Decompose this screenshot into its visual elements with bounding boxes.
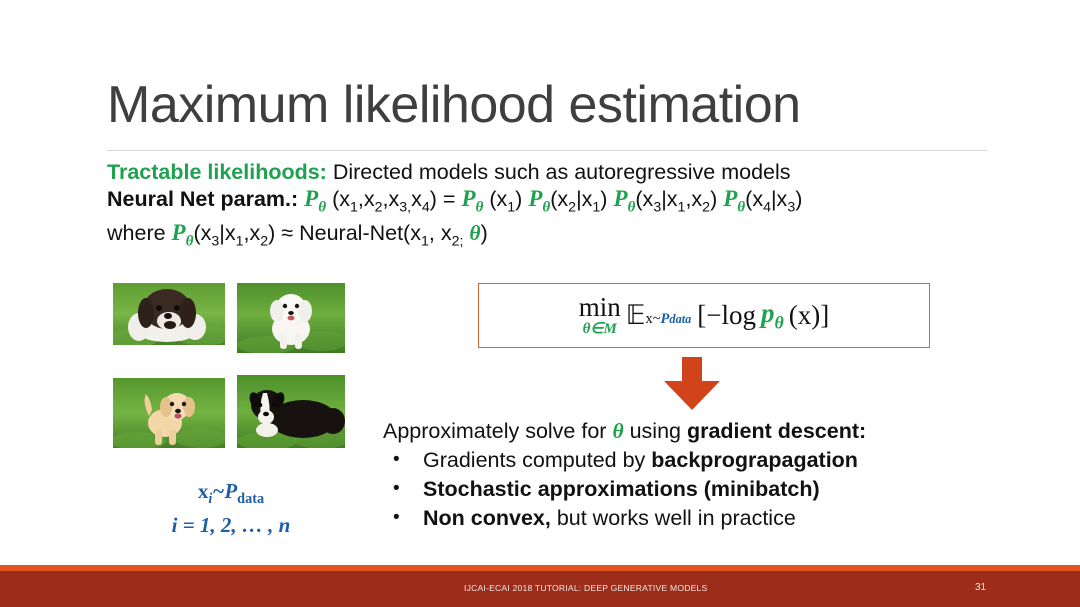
p-theta-where-icon: Pθ — [172, 220, 194, 245]
p-theta-factor-2-icon: Pθ — [528, 186, 550, 211]
bullet-1-bold: backprograpagation — [651, 448, 858, 472]
caption-tilde: ~ — [212, 479, 224, 503]
factor-3-args: (x3|x1,x2) — [635, 187, 717, 211]
list-item: • Gradients computed by backprograpagati… — [383, 447, 1023, 474]
bullet-icon: • — [393, 475, 400, 502]
min-operator: min θ∈M — [579, 294, 621, 337]
bracket-open: [ — [697, 300, 706, 331]
objective-equation-box: min θ∈M 𝔼 x~Pdata [−log pθ (x)] — [478, 283, 930, 348]
caption-data-subscript: data — [237, 491, 264, 507]
bullet-3-bold: Non convex, — [423, 506, 551, 530]
gradient-descent-bullet-list: • Gradients computed by backprograpagati… — [383, 447, 1023, 532]
neural-net-param-line: Neural Net param.: Pθ (x1,x2,x3,x4) = Pθ… — [107, 186, 1007, 221]
neural-net-param-label: Neural Net param.: — [107, 187, 298, 211]
caption-line-2: i = 1, 2, … , n — [116, 512, 346, 538]
neg-log: −log — [706, 300, 756, 331]
objective-equation: min θ∈M 𝔼 x~Pdata [−log pθ (x)] — [579, 294, 830, 337]
list-item: • Non convex, but works well in practice — [383, 505, 1023, 532]
photo-golden-retriever-puppy — [113, 378, 225, 448]
theta-symbol-lead-icon: θ — [612, 419, 623, 443]
density-arg: (x) — [789, 300, 820, 331]
training-data-photo-grid — [113, 283, 345, 453]
min-subscript: θ∈M — [583, 322, 617, 337]
caption-line-1: xi~Pdata — [116, 478, 346, 512]
slide: Maximum likelihood estimation Tractable … — [0, 0, 1080, 607]
tractable-likelihoods-line: Tractable likelihoods: Directed models s… — [107, 160, 1007, 186]
photo-2-image — [237, 283, 345, 353]
lead-mid-text: using — [624, 419, 687, 443]
bullet-icon: • — [393, 446, 400, 473]
theta-symbol-icon: θ — [469, 221, 480, 245]
down-arrow-svg — [663, 357, 721, 411]
approx-sign: ≈ — [281, 221, 293, 245]
where-label: where — [107, 221, 166, 245]
p-symbol: p — [761, 298, 775, 328]
formula-text-block: Tractable likelihoods: Directed models s… — [107, 160, 1007, 255]
lead-pre-text: Approximately solve for — [383, 419, 612, 443]
bullet-2-bold: Stochastic approximations (minibatch) — [423, 477, 820, 501]
p-theta-factor-3-icon: Pθ — [613, 186, 635, 211]
min-label: min — [579, 294, 621, 321]
p-theta-lhs-icon: Pθ — [304, 186, 326, 211]
gradient-descent-block: Approximately solve for θ using gradient… — [383, 418, 1023, 532]
bullet-1-pre: Gradients computed by — [423, 448, 651, 472]
caption-P-symbol: P — [224, 479, 237, 503]
equals-sign: = — [443, 187, 456, 211]
slide-number: 31 — [975, 582, 986, 593]
footer-title: IJCAI-ECAI 2018 TUTORIAL: DEEP GENERATIV… — [464, 583, 707, 593]
lhs-args: (x1,x2,x3,x4) — [332, 187, 437, 211]
p-theta-factor-4-icon: Pθ — [723, 186, 745, 211]
tractable-likelihoods-label: Tractable likelihoods: — [107, 160, 327, 184]
p-theta-density-icon: pθ — [761, 298, 784, 333]
bracket-close: ] — [820, 300, 829, 331]
page-title: Maximum likelihood estimation — [107, 78, 801, 133]
p-theta-factor-1-icon: Pθ — [461, 186, 483, 211]
where-line: where Pθ(x3|x1,x2) ≈ Neural-Net(x1, x2; … — [107, 220, 1007, 255]
photo-border-collie — [237, 375, 345, 448]
expectation-sub-data: data — [669, 312, 691, 326]
photo-shih-tzu-puppy — [113, 283, 225, 345]
down-arrow-icon — [663, 357, 721, 411]
photo-white-poodle — [237, 283, 345, 353]
lead-bold-text: gradient descent: — [687, 419, 866, 443]
factor-1-args: (x1) — [483, 187, 522, 211]
neural-net-expression: Neural-Net(x1, x2; θ) — [299, 221, 488, 245]
expectation-operator: 𝔼 x~Pdata — [626, 300, 692, 331]
where-lhs-args: (x3|x1,x2) — [193, 221, 275, 245]
expectation-symbol-icon: 𝔼 — [626, 300, 646, 331]
bullet-3-post: but works well in practice — [551, 506, 796, 530]
factor-2-args: (x2|x1) — [550, 187, 607, 211]
tractable-likelihoods-text: Directed models such as autoregressive m… — [333, 160, 791, 184]
caption-x-symbol: x — [198, 479, 209, 503]
bullet-icon: • — [393, 504, 400, 531]
factor-4-args: (x4|x3) — [745, 187, 802, 211]
gradient-descent-lead: Approximately solve for θ using gradient… — [383, 418, 1023, 445]
data-sampling-caption: xi~Pdata i = 1, 2, … , n — [116, 478, 346, 538]
list-item: • Stochastic approximations (minibatch) — [383, 476, 1023, 503]
title-divider — [107, 150, 987, 151]
photo-4-image — [237, 375, 345, 448]
photo-3-image — [113, 378, 225, 448]
expectation-subscript: x~Pdata — [645, 311, 691, 331]
p-theta-subscript: θ — [775, 312, 784, 332]
photo-1-image — [113, 283, 225, 345]
expectation-sub-x: x~ — [645, 311, 660, 327]
